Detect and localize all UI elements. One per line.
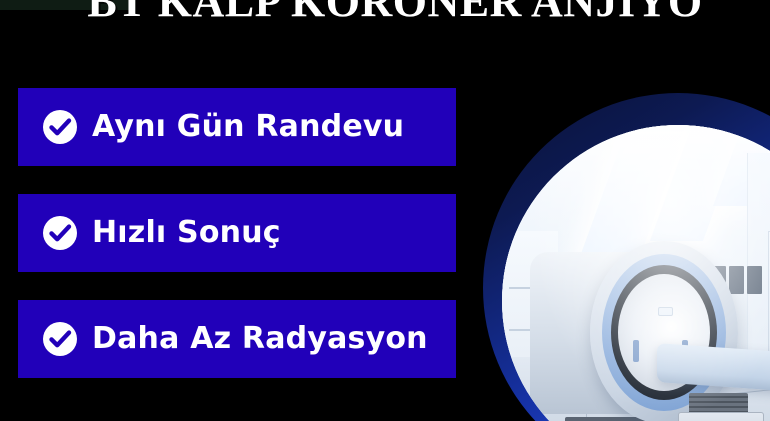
patient-table-base xyxy=(678,412,764,421)
scanner-badge xyxy=(658,307,673,316)
feature-card-label: Aynı Gün Randevu xyxy=(92,112,404,142)
scanner-scene xyxy=(502,125,770,421)
feature-card-2[interactable]: Hızlı Sonuç xyxy=(18,194,456,272)
slide-canvas: BT KALP KORONER ANJİYO Aynı Gün Randevu … xyxy=(0,0,770,421)
photo-ring-border xyxy=(483,93,770,421)
feature-card-1[interactable]: Aynı Gün Randevu xyxy=(18,88,456,166)
ct-scanner-room-photo xyxy=(502,125,770,421)
feature-card-3[interactable]: Daha Az Radyasyon xyxy=(18,300,456,378)
scanner-control-panel xyxy=(633,340,639,362)
feature-card-label: Daha Az Radyasyon xyxy=(92,324,428,354)
feature-list: Aynı Gün Randevu Hızlı Sonuç Daha Az Rad… xyxy=(18,88,456,378)
page-title: BT KALP KORONER ANJİYO xyxy=(0,0,770,27)
feature-card-label: Hızlı Sonuç xyxy=(92,218,281,248)
check-circle-icon xyxy=(42,109,78,145)
check-circle-icon xyxy=(42,215,78,251)
check-circle-icon xyxy=(42,321,78,357)
